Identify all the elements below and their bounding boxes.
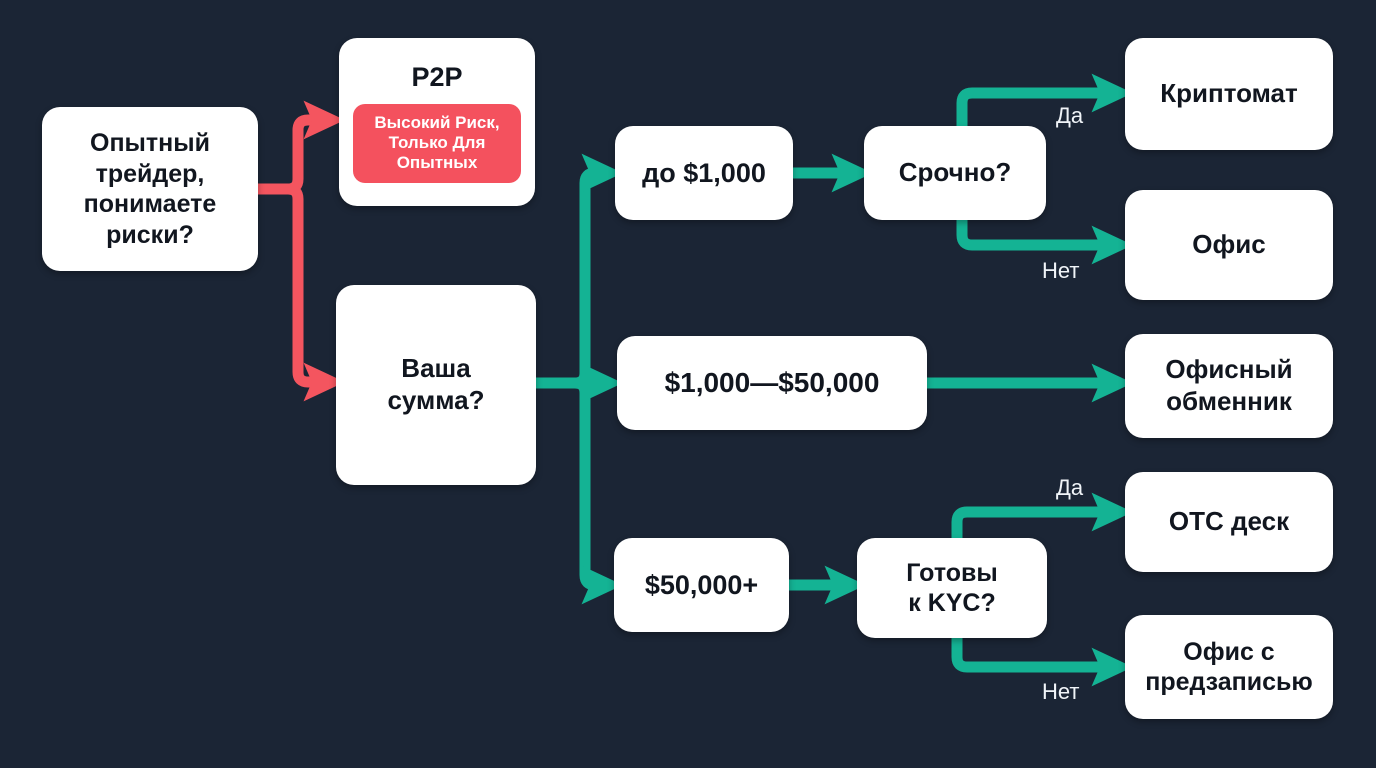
node-outcome-otc-desk-label: OTC деск [1169,506,1289,538]
node-urgent-question[interactable]: Срочно? [864,126,1046,220]
node-kyc-question-label: Готовы к KYC? [906,558,997,619]
edge-start-to-p2p [258,120,322,189]
node-tier-1000-to-50000-label: $1,000—$50,000 [665,366,880,400]
node-outcome-crypto-atm-label: Криптомат [1160,78,1297,110]
edge-label-urgent-yes: Да [1056,103,1083,129]
node-your-amount[interactable]: Ваша сумма? [336,285,536,485]
node-p2p-risk-badge: Высокий Риск, Только Для Опытных [353,104,521,182]
node-outcome-crypto-atm[interactable]: Криптомат [1125,38,1333,150]
node-tier-under-1000[interactable]: до $1,000 [615,126,793,220]
flowchart-canvas: Опытный трейдер, понимаете риски? P2P Вы… [0,0,1376,768]
node-urgent-question-label: Срочно? [899,157,1011,189]
node-outcome-otc-desk[interactable]: OTC деск [1125,472,1333,572]
node-tier-1000-to-50000[interactable]: $1,000—$50,000 [617,336,927,430]
node-kyc-question[interactable]: Готовы к KYC? [857,538,1047,638]
node-outcome-office-appointment[interactable]: Офис с предзаписью [1125,615,1333,719]
edge-label-kyc-no: Нет [1042,679,1079,705]
node-outcome-office[interactable]: Офис [1125,190,1333,300]
edge-amount-to-tier1 [536,173,600,383]
node-p2p[interactable]: P2P Высокий Риск, Только Для Опытных [339,38,535,206]
node-tier-under-1000-label: до $1,000 [642,157,766,190]
node-p2p-label: P2P [411,61,462,94]
edge-amount-to-tier3 [536,383,600,585]
edge-label-kyc-yes: Да [1056,475,1083,501]
node-tier-over-50000[interactable]: $50,000+ [614,538,789,632]
node-outcome-office-label: Офис [1192,229,1265,261]
node-tier-over-50000-label: $50,000+ [645,569,758,602]
edge-start-to-amount [258,189,322,382]
node-experienced-trader-label: Опытный трейдер, понимаете риски? [84,128,217,250]
node-outcome-office-exchanger-label: Офисный обменник [1165,354,1292,417]
node-experienced-trader[interactable]: Опытный трейдер, понимаете риски? [42,107,258,271]
edge-label-urgent-no: Нет [1042,258,1079,284]
node-outcome-office-appointment-label: Офис с предзаписью [1145,637,1313,698]
node-your-amount-label: Ваша сумма? [387,353,484,416]
node-outcome-office-exchanger[interactable]: Офисный обменник [1125,334,1333,438]
